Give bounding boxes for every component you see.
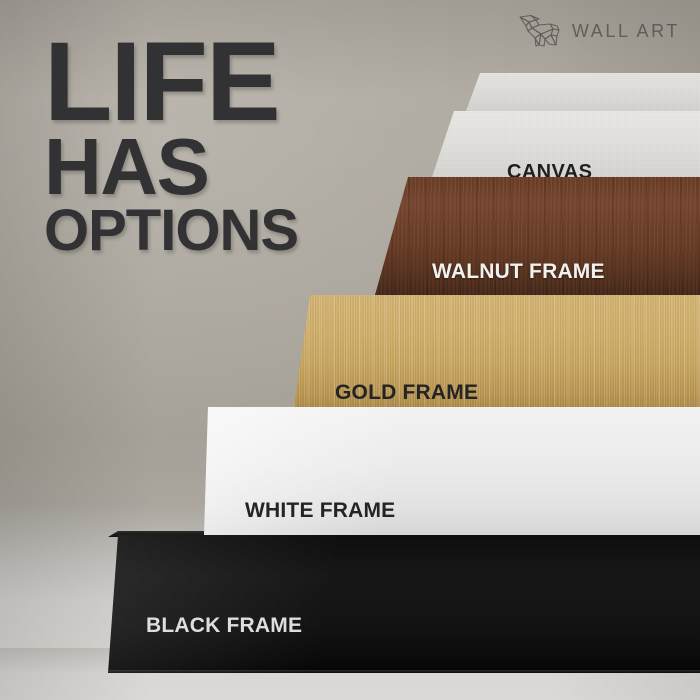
option-slab-canvas-150[interactable]: CANVAS 1.50” [432,111,700,177]
brand-name: WALL ART [572,21,680,42]
option-title: WALNUT FRAME [432,261,605,283]
option-label-canvas-075: CANVAS 0.75” [529,82,644,111]
product-options-poster: CANVAS 0.75” CANVAS 1.50” WALNUT FRAME 1… [0,0,700,700]
origami-goat-icon [517,14,563,48]
option-slab-white-frame[interactable]: WHITE FRAME 1.70” [204,407,700,535]
option-title: BLACK FRAME [146,615,302,637]
option-slab-canvas-075[interactable]: CANVAS 0.75” [466,73,700,111]
option-label-walnut-frame: WALNUT FRAME 1.70” [432,216,605,295]
option-title: WHITE FRAME [245,500,395,522]
option-slab-black-frame[interactable]: BLACK FRAME 1.70” [108,535,700,673]
brand-logo[interactable]: WALL ART [517,14,680,48]
headline-line-3: OPTIONS [44,207,298,255]
option-slab-gold-frame[interactable]: GOLD FRAME 1.70” [294,295,700,407]
headline-line-1: LIFE [44,36,298,128]
option-title: GOLD FRAME [335,382,478,404]
headline: LIFE HAS OPTIONS [44,36,298,255]
option-label-canvas-150: CANVAS 1.50” [507,120,592,177]
option-slab-walnut-frame[interactable]: WALNUT FRAME 1.70” [375,177,700,295]
option-title: CANVAS [507,162,592,177]
option-label-black-frame: BLACK FRAME 1.70” [146,570,302,673]
option-label-white-frame: WHITE FRAME 1.70” [245,455,395,535]
option-label-gold-frame: GOLD FRAME 1.70” [335,337,478,407]
